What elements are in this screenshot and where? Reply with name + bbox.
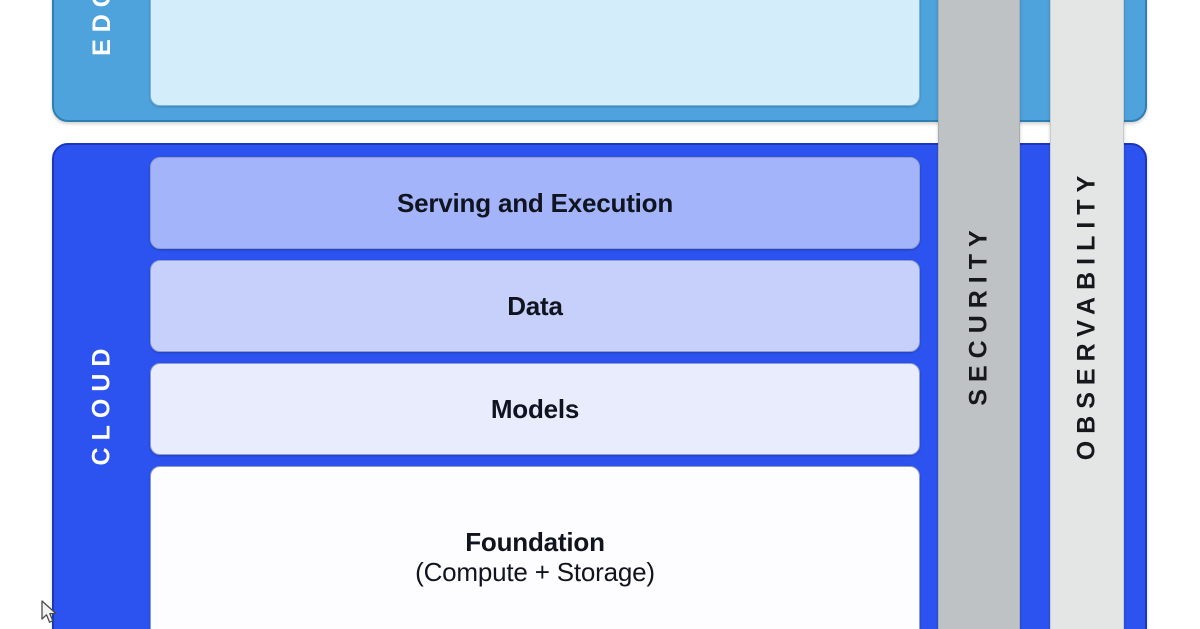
layer-title-foundation: Foundation	[465, 527, 605, 557]
layer-title-models: Models	[491, 394, 579, 424]
layer-title-serving-and-execution: Serving and Execution	[397, 188, 673, 218]
layer-box-serving-and-execution[interactable]: Serving and Execution	[150, 157, 920, 249]
edge-band-vertical-label: EDGE	[54, 0, 150, 120]
layer-title-data: Data	[507, 291, 563, 321]
layer-box-data[interactable]: Data	[150, 260, 920, 352]
cross-cutting-bar-observability-label: OBSERVABILITY	[1073, 169, 1102, 461]
cross-cutting-bar-observability[interactable]: OBSERVABILITY	[1050, 0, 1124, 629]
edge-band-label-text: EDGE	[88, 0, 117, 55]
cross-cutting-bar-security-label: SECURITY	[965, 223, 994, 405]
layer-box-agent-and-application[interactable]: Agent and Application (Building + Manage…	[150, 0, 920, 106]
cloud-band-label-text: CLOUD	[88, 341, 117, 465]
cloud-band-vertical-label: CLOUD	[54, 145, 150, 629]
layer-subtitle-foundation: (Compute + Storage)	[415, 557, 655, 587]
layer-box-foundation[interactable]: Foundation (Compute + Storage)	[150, 466, 920, 629]
diagram-canvas: EDGE Agent and Application (Building + M…	[0, 0, 1200, 629]
cross-cutting-bar-security[interactable]: SECURITY	[938, 0, 1020, 629]
layer-box-models[interactable]: Models	[150, 363, 920, 455]
